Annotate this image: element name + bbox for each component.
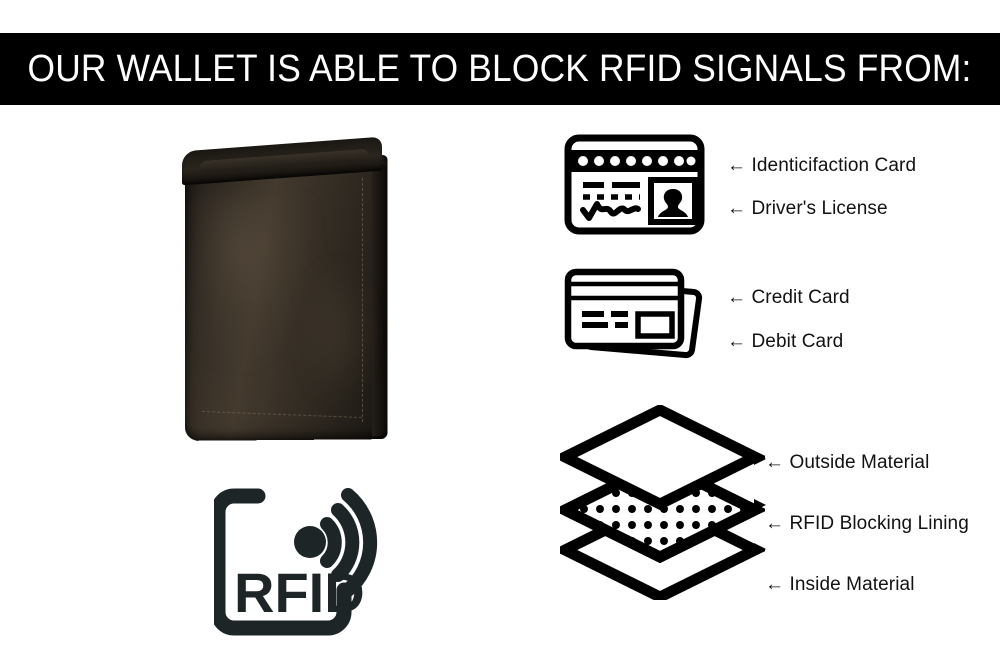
id-card-icon	[562, 132, 707, 237]
wallet-body	[185, 155, 388, 441]
section-materials: ← Outside Material ← RFID Blocking Linin…	[560, 405, 1000, 605]
wallet-product-image	[176, 138, 394, 441]
header-banner: OUR WALLET IS ABLE TO BLOCK RFID SIGNALS…	[0, 33, 1000, 105]
section-identification: ← Identicifaction Card ← Driver's Licens…	[562, 132, 992, 252]
material-layer-labels: ← Outside Material ← RFID Blocking Linin…	[765, 453, 969, 594]
credit-cards-icon	[562, 262, 710, 362]
label-rfid-blocking-lining: ← RFID Blocking Lining	[765, 514, 969, 533]
label-credit-card: ← Credit Card	[727, 288, 850, 307]
section-payment-cards: ← Credit Card ← Debit Card	[562, 262, 992, 372]
label-inside-material: ← Inside Material	[765, 575, 969, 594]
layered-material-icon	[560, 405, 765, 600]
wallet-stitching-right	[362, 178, 363, 422]
label-drivers-license: ← Driver's License	[727, 199, 916, 218]
label-identification-card: ← Identicifaction Card	[727, 156, 916, 175]
rfid-wordmark: RFID	[234, 561, 365, 624]
rfid-logo: RFID	[214, 472, 390, 636]
page-title: OUR WALLET IS ABLE TO BLOCK RFID SIGNALS…	[28, 48, 972, 91]
identification-labels: ← Identicifaction Card ← Driver's Licens…	[727, 156, 916, 218]
label-outside-material: ← Outside Material	[765, 453, 969, 472]
label-debit-card: ← Debit Card	[727, 332, 850, 351]
payment-card-labels: ← Credit Card ← Debit Card	[727, 288, 850, 351]
infographic-page: OUR WALLET IS ABLE TO BLOCK RFID SIGNALS…	[0, 0, 1000, 667]
rfid-signal-icon: RFID	[214, 472, 390, 636]
wallet-spine	[372, 164, 387, 436]
